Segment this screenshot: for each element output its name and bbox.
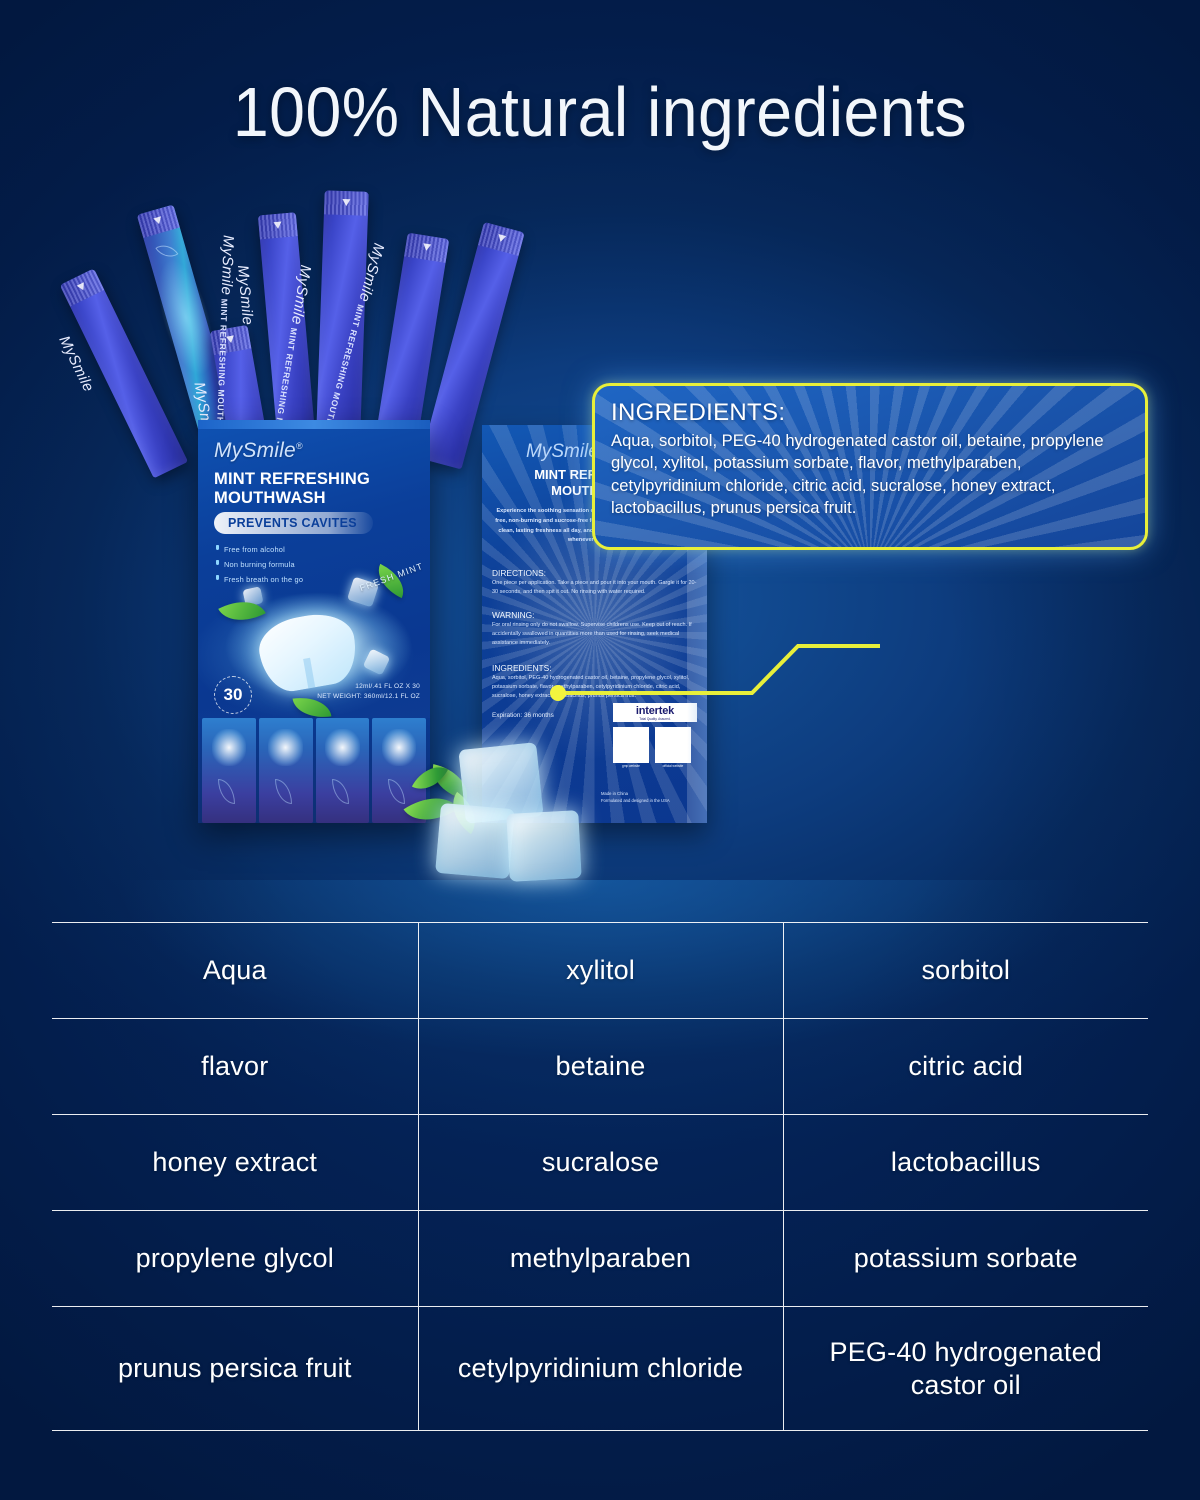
- back-box-ingredients: INGREDIENTS: Aqua, sorbitol, PEG-40 hydr…: [492, 663, 699, 701]
- ingredients-heading: INGREDIENTS:: [492, 663, 699, 673]
- box-top-edge: [198, 420, 430, 429]
- table-cell: methylparaben: [418, 1211, 783, 1307]
- ice-cubes-cluster: [420, 740, 610, 910]
- qr-code-official: official website: [655, 727, 691, 768]
- table-cell: betaine: [418, 1019, 783, 1115]
- product-photo: MySmile MySmile MySmile MySmile MINT REF…: [120, 195, 760, 905]
- ice-cube-icon: [506, 810, 581, 882]
- qr-left-label: gmp website: [613, 764, 649, 768]
- table-cell: propylene glycol: [52, 1211, 418, 1307]
- qr-code-gmp: gmp website: [613, 727, 649, 768]
- table-cell: prunus persica fruit: [52, 1307, 418, 1431]
- table-row: propylene glycol methylparaben potassium…: [52, 1211, 1148, 1307]
- front-box-benefits: Free from alcohol Non burning formula Fr…: [216, 542, 303, 588]
- sachet-label: MySmile: [234, 264, 256, 326]
- sachet-window: [259, 718, 313, 823]
- back-box-directions: DIRECTIONS: One piece per application. T…: [492, 568, 699, 597]
- count-badge: 30: [214, 676, 252, 714]
- tear-arrow-icon: [422, 243, 431, 251]
- table-cell: honey extract: [52, 1115, 418, 1211]
- volume-line-2: NET WEIGHT: 360ml/12.1 FL OZ: [317, 692, 420, 702]
- intertek-tagline: Total Quality. Assured.: [613, 717, 697, 721]
- benefit-item: Fresh breath on the go: [216, 572, 303, 587]
- table-cell: Aqua: [52, 923, 418, 1019]
- sachet-window: [316, 718, 370, 823]
- product-box-front: MySmile® MINT REFRESHINGMOUTHWASH PREVEN…: [198, 420, 430, 823]
- made-in-text: Made in ChinaFormulated and designed in …: [601, 791, 697, 804]
- registered-mark: ®: [296, 441, 303, 451]
- tear-arrow-icon: [273, 222, 282, 230]
- table-row: flavor betaine citric acid: [52, 1019, 1148, 1115]
- qr-code-icon: [655, 727, 691, 763]
- directions-text: One piece per application. Take a piece …: [492, 579, 699, 597]
- front-box-product-name: MINT REFRESHINGMOUTHWASH: [214, 470, 414, 508]
- table-cell: citric acid: [783, 1019, 1148, 1115]
- page-title: 100% Natural ingredients: [48, 72, 1152, 152]
- qr-code-icon: [613, 727, 649, 763]
- table-cell: flavor: [52, 1019, 418, 1115]
- table-cell: potassium sorbate: [783, 1211, 1148, 1307]
- callout-body: Aqua, sorbitol, PEG-40 hydrogenated cast…: [611, 430, 1129, 519]
- warning-heading: WARNING:: [492, 610, 699, 620]
- tear-arrow-icon: [342, 199, 350, 206]
- benefit-item: Non burning formula: [216, 557, 303, 572]
- certification-block: intertek Total Quality. Assured. gmp web…: [613, 703, 697, 768]
- ingredients-callout: INGREDIENTS: Aqua, sorbitol, PEG-40 hydr…: [592, 383, 1148, 550]
- directions-heading: DIRECTIONS:: [492, 568, 699, 578]
- table-body: Aqua xylitol sorbitol flavor betaine cit…: [52, 923, 1148, 1431]
- sachet-window-row: [198, 718, 430, 823]
- ingredients-text: Aqua, sorbitol, PEG-40 hydrogenated cast…: [492, 674, 699, 701]
- sachet-brand: MySmile: [234, 264, 256, 326]
- intertek-logo: intertek Total Quality. Assured.: [613, 703, 697, 722]
- table-cell: PEG-40 hydrogenated castor oil: [783, 1307, 1148, 1431]
- table-row: prunus persica fruit cetylpyridinium chl…: [52, 1307, 1148, 1431]
- table-cell: xylitol: [418, 923, 783, 1019]
- table-cell: sucralose: [418, 1115, 783, 1211]
- prevents-cavities-badge: PREVENTS CAVITES: [214, 512, 373, 534]
- ingredients-table: Aqua xylitol sorbitol flavor betaine cit…: [52, 922, 1148, 1431]
- sachet-window: [202, 718, 256, 823]
- qr-right-label: official website: [655, 764, 691, 768]
- benefit-item: Free from alcohol: [216, 542, 303, 557]
- front-box-brand: MySmile®: [214, 439, 303, 463]
- back-box-brand: MySmile: [526, 441, 599, 463]
- qr-code-group: gmp website official website: [613, 727, 697, 768]
- table-cell: cetylpyridinium chloride: [418, 1307, 783, 1431]
- table-row: Aqua xylitol sorbitol: [52, 923, 1148, 1019]
- back-box-warning: WARNING: For oral rinsing only do not sw…: [492, 610, 699, 648]
- volume-info: 12ml/.41 FL OZ X 30 NET WEIGHT: 360ml/12…: [317, 682, 420, 702]
- volume-line-1: 12ml/.41 FL OZ X 30: [317, 682, 420, 692]
- ice-cube-icon: [435, 803, 515, 879]
- sachet-brand: MySmile: [218, 235, 237, 296]
- table-cell: lactobacillus: [783, 1115, 1148, 1211]
- callout-heading: INGREDIENTS:: [611, 400, 1129, 425]
- table-row: honey extract sucralose lactobacillus: [52, 1115, 1148, 1211]
- sachet-glow: [147, 253, 224, 381]
- table-cell: sorbitol: [783, 923, 1148, 1019]
- warning-text: For oral rinsing only do not swallow. Su…: [492, 621, 699, 648]
